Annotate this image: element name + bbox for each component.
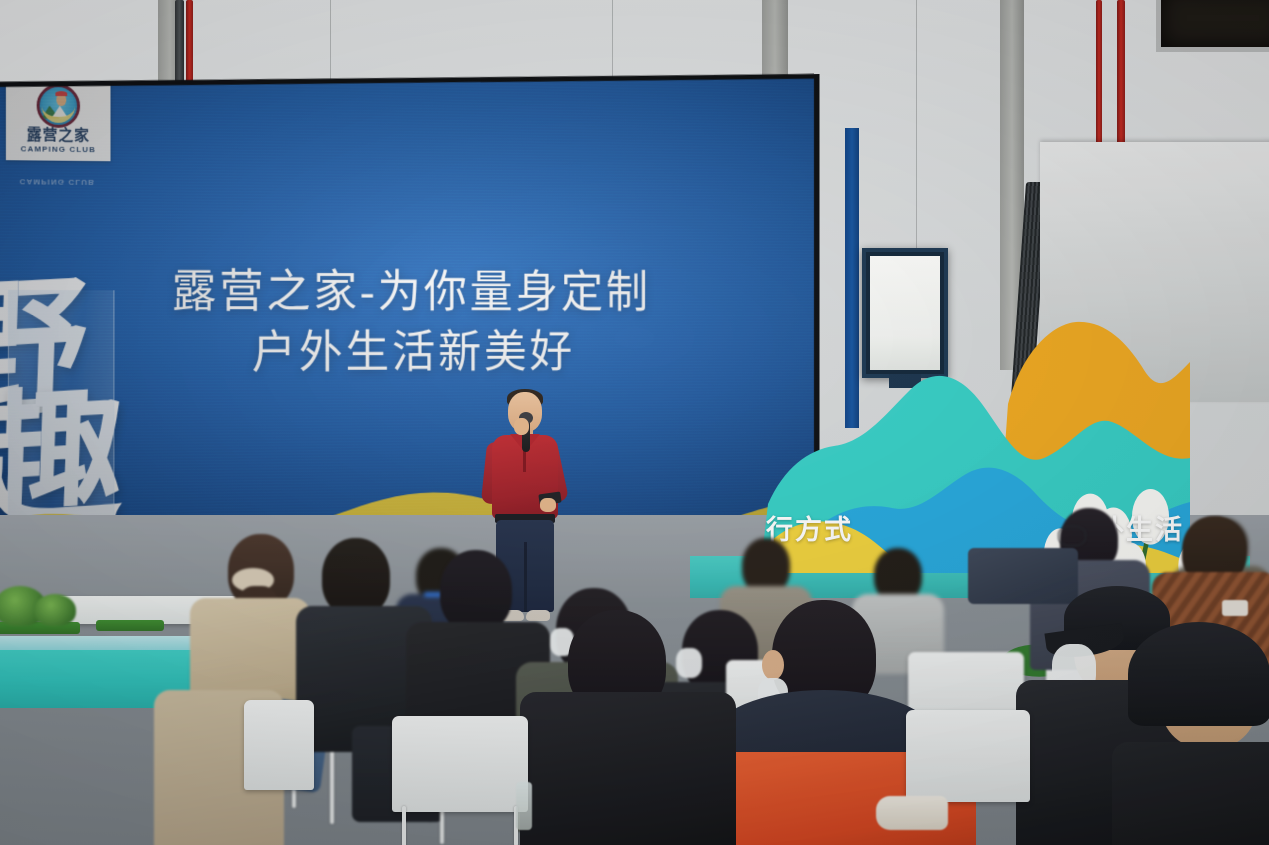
chair-front-2 — [906, 710, 1030, 802]
dark-framed-panel — [1156, 0, 1269, 52]
front-person-orange-ear — [762, 650, 784, 680]
white-sneaker — [876, 796, 948, 830]
led-screen-surface: 野 趣 露营之家 CAMPING CLUB CAMPING CLUB 露营之 — [0, 60, 814, 580]
front-person-brownknit-phone — [1222, 600, 1248, 616]
led-stage-screen: 野 趣 露营之家 CAMPING CLUB CAMPING CLUB 露营之 — [0, 60, 819, 580]
mid-person-2-head — [322, 538, 390, 616]
shrub-left-b — [34, 594, 76, 626]
turf-strip-b — [96, 620, 164, 631]
front-person-laptop-glasses — [1058, 526, 1086, 546]
decor-slogan-row: 行方式 户外生活 — [760, 508, 1190, 547]
chair-front-1-leg-a — [402, 806, 406, 845]
presenter-leg-split — [524, 542, 527, 612]
laptop-icon — [968, 548, 1078, 604]
mid-person-5-face-mask — [676, 648, 702, 678]
chair-front-3 — [244, 700, 314, 790]
chair-mid-2-leg-a — [330, 742, 334, 824]
mid-person-3-head — [440, 550, 512, 632]
chair-front-1 — [392, 716, 528, 812]
presenter-right-shoe — [526, 610, 550, 621]
layered-mountain-backdrop: 行方式 户外生活 — [760, 318, 1190, 573]
led-vignette — [0, 60, 814, 580]
water-bottle — [516, 782, 532, 830]
front-person-beanie-coat — [1112, 742, 1269, 845]
front-person-darkjacket-body — [520, 692, 736, 845]
presenter-hand-holding-phone — [540, 498, 556, 512]
presenter-hand-holding-mic — [514, 418, 529, 435]
front-person-beanie — [1128, 622, 1269, 726]
conference-photo-scene: 野 趣 露营之家 CAMPING CLUB CAMPING CLUB 露营之 — [0, 0, 1269, 845]
